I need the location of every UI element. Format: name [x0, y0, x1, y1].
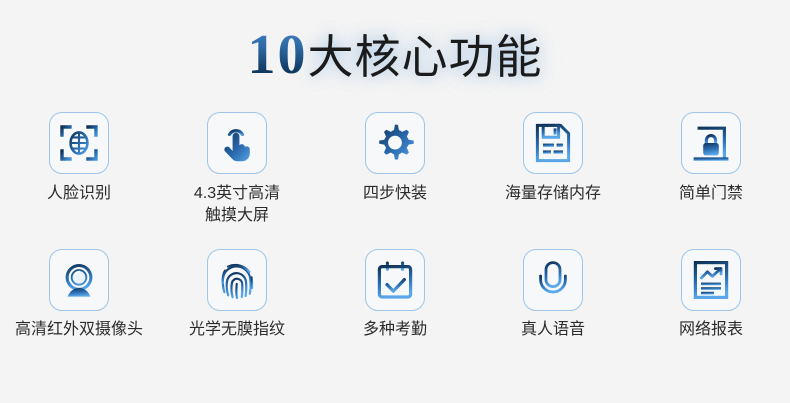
feature-item-touch-screen[interactable]: 4.3英寸高清 触摸大屏 [158, 112, 316, 227]
feature-item-face-recognition[interactable]: 人脸识别 [0, 112, 158, 227]
feature-item-dual-camera[interactable]: 高清红外双摄像头 [0, 249, 158, 341]
feature-label: 真人语音 [521, 319, 585, 341]
report-chart-icon [691, 259, 731, 301]
floppy-disk-storage-icon [534, 122, 572, 164]
feature-label: 人脸识别 [47, 183, 111, 205]
feature-label: 4.3英寸高清 触摸大屏 [194, 183, 280, 227]
door-lock-icon [690, 122, 732, 164]
feature-item-access-control[interactable]: 简单门禁 [632, 112, 790, 227]
feature-row-2: 高清红外双摄像头 [0, 249, 790, 341]
touch-hand-icon [217, 122, 257, 164]
feature-item-network-report[interactable]: 网络报表 [632, 249, 790, 341]
feature-label: 光学无膜指纹 [189, 319, 285, 341]
feature-row-1: 人脸识别 4.3英寸高清 触摸大屏 [0, 112, 790, 227]
feature-label: 高清红外双摄像头 [15, 319, 143, 341]
feature-tile [523, 249, 583, 311]
face-recognition-icon [58, 122, 100, 164]
feature-tile [365, 249, 425, 311]
feature-tile [49, 112, 109, 174]
feature-item-quick-install[interactable]: 四步快装 [316, 112, 474, 227]
feature-grid: 人脸识别 4.3英寸高清 触摸大屏 [0, 112, 790, 341]
feature-label: 网络报表 [679, 319, 743, 341]
page-title: 10大核心功能 [0, 24, 790, 94]
feature-item-fingerprint[interactable]: 光学无膜指纹 [158, 249, 316, 341]
feature-tile [207, 249, 267, 311]
feature-label: 海量存储内存 [505, 183, 601, 205]
feature-label: 简单门禁 [679, 183, 743, 205]
feature-tile [681, 249, 741, 311]
feature-item-storage[interactable]: 海量存储内存 [474, 112, 632, 227]
feature-tile [49, 249, 109, 311]
webcam-icon [58, 259, 100, 301]
title-text: 大核心功能 [308, 31, 543, 83]
calendar-check-icon [374, 259, 416, 301]
feature-tile [207, 112, 267, 174]
feature-label: 四步快装 [363, 183, 427, 205]
feature-item-voice[interactable]: 真人语音 [474, 249, 632, 341]
fingerprint-icon [217, 259, 257, 301]
feature-label: 多种考勤 [363, 319, 427, 341]
feature-item-attendance[interactable]: 多种考勤 [316, 249, 474, 341]
feature-highlight-page: 10大核心功能 [0, 0, 790, 403]
title-inner: 10大核心功能 [248, 24, 543, 100]
feature-tile [523, 112, 583, 174]
microphone-icon [533, 259, 573, 301]
feature-tile [365, 112, 425, 174]
title-number: 10 [248, 24, 308, 86]
gear-icon [374, 122, 416, 164]
feature-tile [681, 112, 741, 174]
